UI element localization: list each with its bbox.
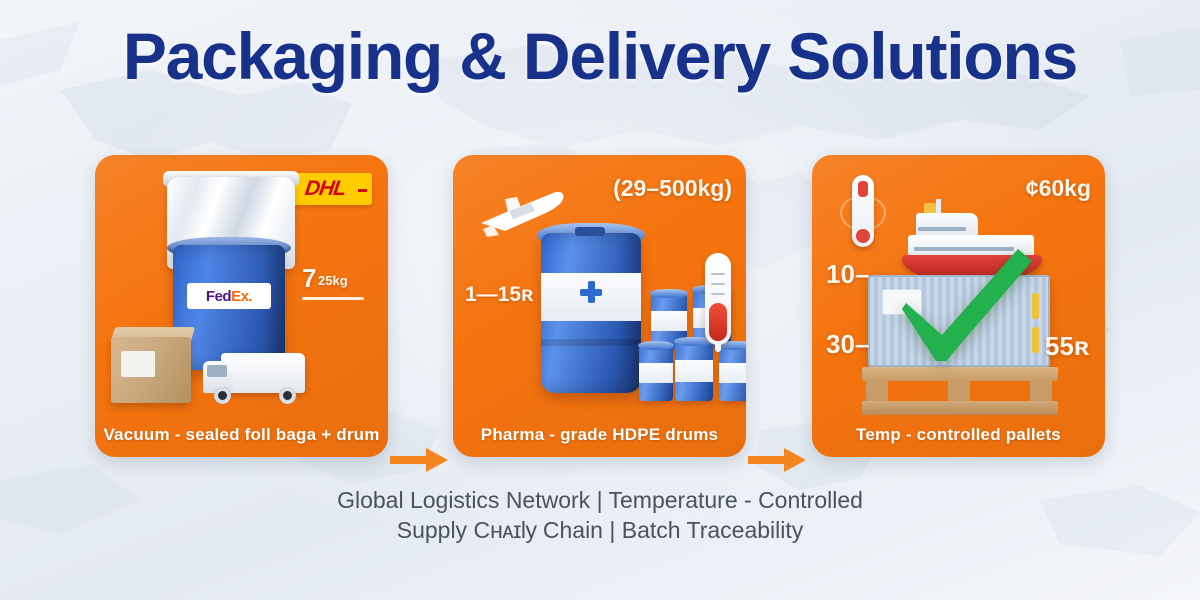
tagline-line-2-prefix: Supply C: [397, 517, 490, 543]
delivery-truck-window-icon: [207, 365, 227, 377]
metric-weight-card1-unit: 25kg: [318, 273, 348, 288]
tagline-line-2-suffix: Chain | Batch Traceability: [536, 517, 803, 543]
card-temp-controlled[interactable]: ¢60kg 10– 30– 55ʀ Temp - controlled pall…: [812, 155, 1105, 457]
tagline-line-2: Supply Cʜᴀɪly Chain | Batch Traceability: [0, 515, 1200, 545]
truck-wheel-front-icon: [214, 387, 231, 404]
metric-card3-right: 55ʀ: [1045, 331, 1089, 362]
metric-weight-range-card2: (29–500kg): [613, 175, 732, 202]
flow-arrow-1: [390, 447, 450, 473]
medical-cross-icon: [580, 281, 602, 303]
metric-weight-card3: ¢60kg: [1026, 175, 1091, 202]
wooden-pallet-top-icon: [862, 367, 1058, 381]
metric-range-card2-left: 1—15ʀ: [465, 283, 533, 307]
thermometer-tick-icon: [711, 283, 725, 285]
card-caption: Vacuum - sealed foll baga + drum: [95, 425, 388, 445]
hdpe-drum-rib-icon: [541, 339, 641, 346]
tagline: Global Logistics Network | Temperature -…: [0, 485, 1200, 545]
card-pharma-hdpe[interactable]: (29–500kg) 1—15ʀ Pharma - grade HDPE dru…: [453, 155, 746, 457]
fedex-brand-label: FedEx.: [187, 283, 271, 309]
mini-drum-icon: [639, 345, 673, 401]
thermometer-mercury-icon: [709, 303, 727, 341]
metric-card3-left-bottom: 30–: [826, 329, 869, 360]
page-title: Packaging & Delivery Solutions: [0, 18, 1200, 94]
pallet-leg-icon: [866, 381, 888, 401]
tagline-garbled-text: ʜᴀɪly: [490, 517, 536, 543]
thermometer-top-icon: [858, 181, 868, 197]
fedex-text-ex: Ex.: [231, 288, 252, 305]
solution-cards-row: DHL FedEx. Vacuum - sealed foll baga + d…: [0, 155, 1200, 460]
mini-drum-icon: [675, 341, 713, 401]
thermometer-bulb-icon: [856, 229, 870, 243]
card-vacuum-sealed[interactable]: DHL FedEx. Vacuum - sealed foll baga + d…: [95, 155, 388, 457]
card-caption: Pharma - grade HDPE drums: [453, 425, 746, 445]
metric-card3-left-top: 10–: [826, 259, 869, 290]
thermometer-tick-icon: [711, 293, 725, 295]
thermometer-tip-icon: [715, 343, 721, 352]
hdpe-drum-cap-icon: [575, 227, 605, 236]
metric-underline-card1: [302, 297, 364, 300]
thermometer-tick-icon: [711, 273, 725, 275]
pallet-leg-icon: [948, 381, 970, 401]
pallet-leg-icon: [1030, 381, 1052, 401]
tagline-line-1: Global Logistics Network | Temperature -…: [0, 485, 1200, 515]
delivery-truck-body-icon: [221, 353, 305, 393]
truck-wheel-rear-icon: [279, 387, 296, 404]
green-checkmark-icon: [890, 243, 1040, 369]
flow-arrow-2: [748, 447, 808, 473]
metric-weight-card1-value: 7: [302, 263, 316, 294]
shipping-label-icon: [121, 351, 155, 377]
ship-window-row-icon: [918, 227, 966, 231]
wooden-pallet-base-icon: [862, 401, 1058, 415]
dhl-logo-text: DHL: [303, 177, 347, 201]
card-caption: Temp - controlled pallets: [812, 425, 1105, 445]
mini-drum-icon: [719, 345, 746, 401]
fedex-text-fed: Fed: [206, 288, 231, 305]
dhl-dash-right-icon: [358, 189, 367, 192]
